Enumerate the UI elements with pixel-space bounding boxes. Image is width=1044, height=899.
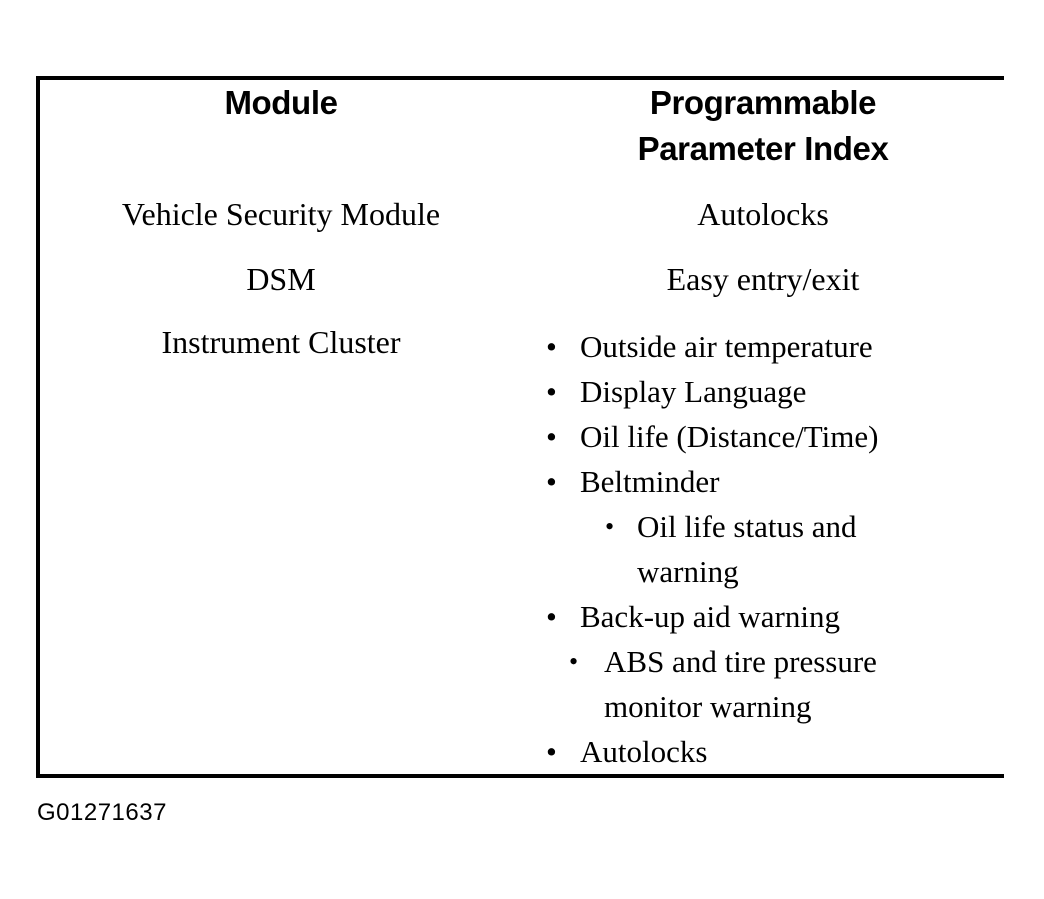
table-header-row: Module Programmable Parameter Index — [40, 80, 1004, 197]
list-item-label: Outside air temperature — [580, 329, 873, 364]
list-item-label: Display Language — [580, 374, 806, 409]
column-header-index-line1: Programmable — [522, 80, 1004, 126]
sub-list-item-label-line2: monitor warning — [604, 684, 1004, 729]
list-item: • Beltminder — [522, 459, 1004, 504]
list-item-label: Autolocks — [580, 734, 707, 769]
list-item-label: Back-up aid warning — [580, 599, 840, 634]
sub-list-item: • Oil life status and warning — [522, 504, 1004, 594]
list-item: • Outside air temperature — [522, 324, 1004, 369]
bullet-icon: • — [546, 459, 557, 504]
cell-module-vehicle-security-module: Vehicle Security Module — [40, 197, 522, 262]
cell-module-dsm: DSM — [40, 262, 522, 324]
table-row: Vehicle Security Module Autolocks — [40, 197, 1004, 262]
cell-index-autolocks: Autolocks — [522, 197, 1004, 262]
parameter-bullet-list: • Outside air temperature • Display Lang… — [522, 324, 1004, 774]
cell-module-instrument-cluster: Instrument Cluster — [40, 324, 522, 774]
list-item-label: Beltminder — [580, 464, 719, 499]
bullet-icon: • — [569, 639, 578, 684]
bullet-icon: • — [546, 414, 557, 459]
bullet-icon: • — [605, 504, 614, 549]
table-row: Instrument Cluster • Outside air tempera… — [40, 324, 1004, 774]
bullet-icon: • — [546, 324, 557, 369]
sub-list-item-label-line1: Oil life status and — [637, 504, 1004, 549]
column-header-module: Module — [40, 80, 522, 197]
programmable-parameter-index-table: Module Programmable Parameter Index Vehi… — [36, 76, 1004, 778]
list-item: • Display Language — [522, 369, 1004, 414]
cell-index-instrument-cluster-list: • Outside air temperature • Display Lang… — [522, 324, 1004, 774]
sub-list-item-label-line2: warning — [637, 549, 1004, 594]
sub-list-item-label-line1: ABS and tire pressure — [604, 639, 1004, 684]
list-item-label: Oil life (Distance/Time) — [580, 419, 878, 454]
list-item: • Oil life (Distance/Time) — [522, 414, 1004, 459]
list-item: • Autolocks — [522, 729, 1004, 774]
bullet-icon: • — [546, 594, 557, 639]
column-header-index-line2: Parameter Index — [522, 126, 1004, 172]
figure-caption: G01271637 — [37, 798, 167, 828]
list-item: • Back-up aid warning — [522, 594, 1004, 639]
column-header-parameter-index: Programmable Parameter Index — [522, 80, 1004, 197]
table: Module Programmable Parameter Index Vehi… — [40, 80, 1004, 774]
table-row: DSM Easy entry/exit — [40, 262, 1004, 324]
cell-index-easy-entry-exit: Easy entry/exit — [522, 262, 1004, 324]
bullet-icon: • — [546, 369, 557, 414]
figure-container: Module Programmable Parameter Index Vehi… — [0, 0, 1044, 899]
column-header-module-label: Module — [40, 80, 522, 126]
bullet-icon: • — [546, 729, 557, 774]
sub-list-item: • ABS and tire pressure monitor warning — [522, 639, 1004, 729]
